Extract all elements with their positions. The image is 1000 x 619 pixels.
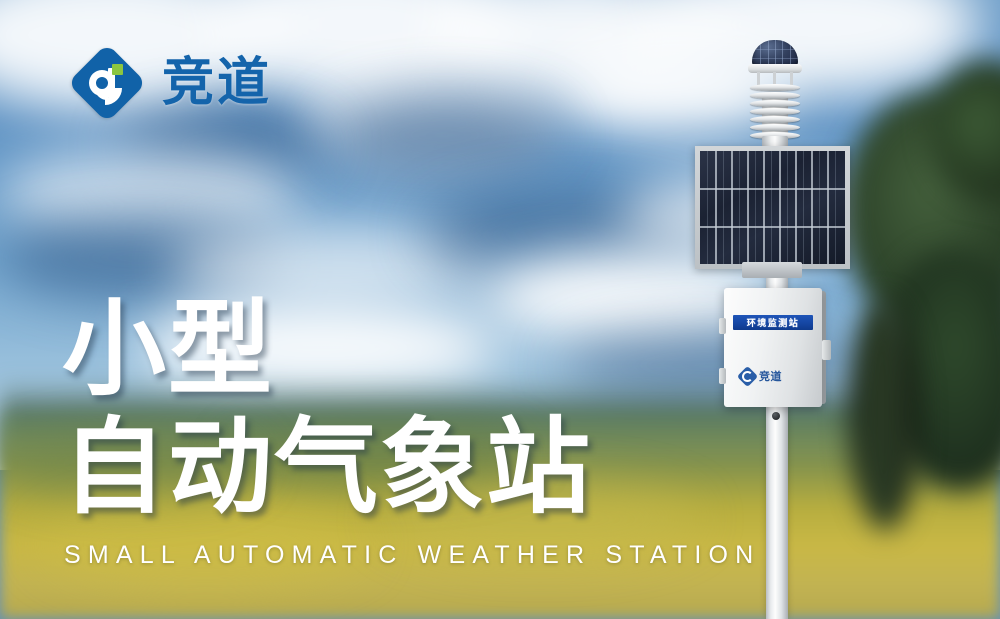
controller-enclosure (724, 288, 822, 407)
headline-line-1: 小型 (62, 296, 592, 402)
brand-name: 竞道 (162, 57, 272, 109)
product-banner: 环境监测站 竞道 竞道 小型 自动气象站 SMALL AUTOMATIC WEA… (0, 0, 1000, 619)
jingdao-mark-small-icon (737, 365, 758, 386)
headline-block: 小型 自动气象站 (62, 296, 592, 520)
logo-glyph-svg (68, 44, 146, 122)
panel-mount-bracket (742, 262, 802, 278)
enclosure-brand: 竞道 (740, 367, 810, 385)
solar-panel (695, 146, 850, 269)
radiation-shield (750, 84, 800, 140)
enclosure-mount-ear (719, 318, 726, 334)
enclosure-mount-ear (719, 368, 726, 384)
brand-logo[interactable]: 竞道 (68, 44, 272, 122)
enclosure-label-text: 环境监测站 (747, 316, 800, 329)
solar-cells (700, 151, 845, 264)
enclosure-bolt (772, 412, 780, 420)
jingdao-diamond-logo-icon (68, 44, 146, 122)
enclosure-brand-text: 竞道 (759, 368, 782, 384)
headline-subtitle: SMALL AUTOMATIC WEATHER STATION (64, 541, 760, 570)
enclosure-label-banner: 环境监测站 (733, 315, 813, 330)
enclosure-mount-ear (822, 340, 831, 360)
headline-line-2: 自动气象站 (62, 414, 592, 520)
